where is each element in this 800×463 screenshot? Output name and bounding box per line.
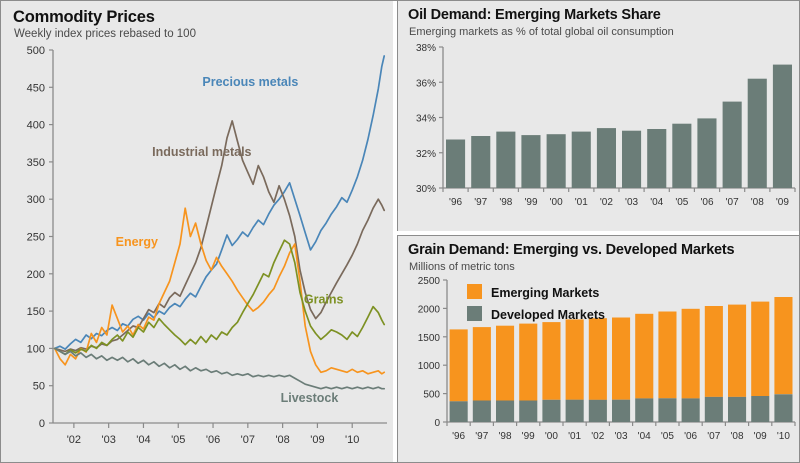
x-tick-label: '07 <box>707 431 720 442</box>
y-tick-label: 50 <box>33 381 45 393</box>
series-label-grains: Grains <box>304 293 344 307</box>
x-tick-label: '99 <box>522 431 535 442</box>
x-tick-label: '97 <box>474 197 487 208</box>
bar-developed-03 <box>612 400 630 422</box>
bar-01 <box>572 132 591 188</box>
x-tick-label: '05 <box>171 434 185 446</box>
x-tick-label: '96 <box>449 197 462 208</box>
commodity-title: Commodity Prices <box>13 8 155 27</box>
bar-developed-96 <box>450 401 468 422</box>
panel-oil-demand: Oil Demand: Emerging Markets Share Emerg… <box>397 1 799 231</box>
bar-developed-98 <box>496 401 514 423</box>
panel-grain-demand: Grain Demand: Emerging vs. Developed Mar… <box>397 235 799 462</box>
oil-bar-chart: 30%32%34%36%38%'96'97'98'99'00'01'02'03'… <box>399 43 800 230</box>
bar-02 <box>597 128 616 188</box>
y-tick-label: 0 <box>434 418 440 429</box>
y-tick-label: 150 <box>27 306 45 318</box>
bar-emerging-06 <box>682 309 700 399</box>
bar-developed-02 <box>589 400 607 422</box>
y-tick-label: 2000 <box>418 304 441 315</box>
x-tick-label: '09 <box>776 197 789 208</box>
oil-subtitle: Emerging markets as % of total global oi… <box>409 26 674 38</box>
bar-developed-10 <box>774 394 792 422</box>
y-tick-label: 0 <box>39 418 45 430</box>
x-tick-label: '04 <box>650 197 663 208</box>
y-tick-label: 400 <box>27 120 45 132</box>
x-tick-label: '03 <box>625 197 638 208</box>
x-tick-label: '97 <box>475 431 488 442</box>
y-tick-label: 450 <box>27 82 45 94</box>
oil-title: Oil Demand: Emerging Markets Share <box>408 7 661 23</box>
x-tick-label: '01 <box>575 197 588 208</box>
bar-emerging-98 <box>496 326 514 401</box>
x-tick-label: '02 <box>600 197 613 208</box>
bar-developed-97 <box>473 401 491 423</box>
bar-emerging-05 <box>658 312 676 399</box>
bar-developed-08 <box>728 397 746 422</box>
x-tick-label: '01 <box>568 431 581 442</box>
bar-developed-00 <box>542 400 560 422</box>
bar-09 <box>773 65 792 188</box>
x-tick-label: '08 <box>751 197 764 208</box>
x-tick-label: '06 <box>206 434 220 446</box>
y-tick-label: 36% <box>416 78 436 89</box>
bar-emerging-09 <box>751 302 769 396</box>
bar-emerging-04 <box>635 314 653 399</box>
x-tick-label: '06 <box>700 197 713 208</box>
x-tick-label: '05 <box>675 197 688 208</box>
bar-developed-07 <box>705 397 723 422</box>
bar-emerging-02 <box>589 318 607 400</box>
bar-emerging-01 <box>566 319 584 399</box>
x-tick-label: '07 <box>241 434 255 446</box>
bar-04 <box>647 129 666 188</box>
bar-emerging-10 <box>774 297 792 394</box>
y-tick-label: 500 <box>423 390 440 401</box>
x-tick-label: '00 <box>550 197 563 208</box>
bar-developed-01 <box>566 400 584 422</box>
x-tick-label: '04 <box>136 434 150 446</box>
bar-00 <box>547 134 566 188</box>
grain-subtitle: Millions of metric tons <box>409 261 515 273</box>
bar-emerging-97 <box>473 327 491 400</box>
panel-commodity-prices: Commodity Prices Weekly index prices reb… <box>1 1 393 462</box>
x-tick-label: '98 <box>499 197 512 208</box>
legend-swatch-emerging-markets <box>467 284 482 299</box>
legend-label-developed-markets: Developed Markets <box>491 308 605 322</box>
x-tick-label: '08 <box>275 434 289 446</box>
x-tick-label: '96 <box>452 431 465 442</box>
series-label-industrial-metals: Industrial metals <box>152 145 251 159</box>
x-tick-label: '04 <box>638 431 651 442</box>
bar-developed-05 <box>658 398 676 422</box>
commodity-line-chart: 050100150200250300350400450500'02'03'04'… <box>1 42 393 462</box>
x-tick-label: '98 <box>498 431 511 442</box>
series-label-precious-metals: Precious metals <box>202 75 298 89</box>
bar-07 <box>723 102 742 188</box>
y-tick-label: 1000 <box>418 361 441 372</box>
bar-06 <box>697 118 716 188</box>
x-tick-label: '02 <box>591 431 604 442</box>
bar-99 <box>521 135 540 188</box>
bar-08 <box>748 79 767 188</box>
y-tick-label: 32% <box>416 149 436 160</box>
bar-emerging-96 <box>450 329 468 401</box>
legend-label-emerging-markets: Emerging Markets <box>491 286 599 300</box>
bar-emerging-03 <box>612 318 630 400</box>
series-label-livestock: Livestock <box>281 391 339 405</box>
y-tick-label: 34% <box>416 114 436 125</box>
x-tick-label: '10 <box>345 434 359 446</box>
y-tick-label: 500 <box>27 45 45 57</box>
bar-developed-99 <box>519 401 537 423</box>
y-tick-label: 100 <box>27 343 45 355</box>
bar-98 <box>496 132 515 188</box>
x-tick-label: '09 <box>310 434 324 446</box>
x-tick-label: '09 <box>754 431 767 442</box>
bar-developed-06 <box>682 398 700 422</box>
x-tick-label: '03 <box>614 431 627 442</box>
y-tick-label: 2500 <box>418 276 441 287</box>
x-tick-label: '05 <box>661 431 674 442</box>
x-tick-label: '10 <box>777 431 790 442</box>
bar-emerging-07 <box>705 306 723 397</box>
bar-emerging-08 <box>728 305 746 397</box>
line-series-energy <box>55 208 385 374</box>
x-tick-label: '99 <box>524 197 537 208</box>
bar-developed-04 <box>635 398 653 422</box>
x-tick-label: '00 <box>545 431 558 442</box>
y-tick-label: 38% <box>416 43 436 54</box>
x-tick-label: '06 <box>684 431 697 442</box>
bar-03 <box>622 131 641 188</box>
series-label-energy: Energy <box>116 235 158 249</box>
y-tick-label: 250 <box>27 232 45 244</box>
bar-97 <box>471 136 490 188</box>
x-tick-label: '07 <box>726 197 739 208</box>
infographic-root: Commodity Prices Weekly index prices reb… <box>0 0 800 463</box>
commodity-subtitle: Weekly index prices rebased to 100 <box>14 28 196 40</box>
bar-emerging-00 <box>542 322 560 400</box>
x-tick-label: '02 <box>67 434 81 446</box>
y-tick-label: 300 <box>27 194 45 206</box>
grain-title: Grain Demand: Emerging vs. Developed Mar… <box>408 242 734 258</box>
bar-05 <box>672 124 691 188</box>
x-tick-label: '08 <box>730 431 743 442</box>
legend-swatch-developed-markets <box>467 306 482 321</box>
y-tick-label: 1500 <box>418 333 441 344</box>
y-tick-label: 30% <box>416 184 436 195</box>
bar-96 <box>446 140 465 189</box>
y-tick-label: 350 <box>27 157 45 169</box>
x-tick-label: '03 <box>101 434 115 446</box>
grain-stacked-bar-chart: 05001000150020002500'96'97'98'99'00'01'0… <box>399 276 800 462</box>
y-tick-label: 200 <box>27 269 45 281</box>
bar-emerging-99 <box>519 324 537 401</box>
bar-developed-09 <box>751 396 769 422</box>
